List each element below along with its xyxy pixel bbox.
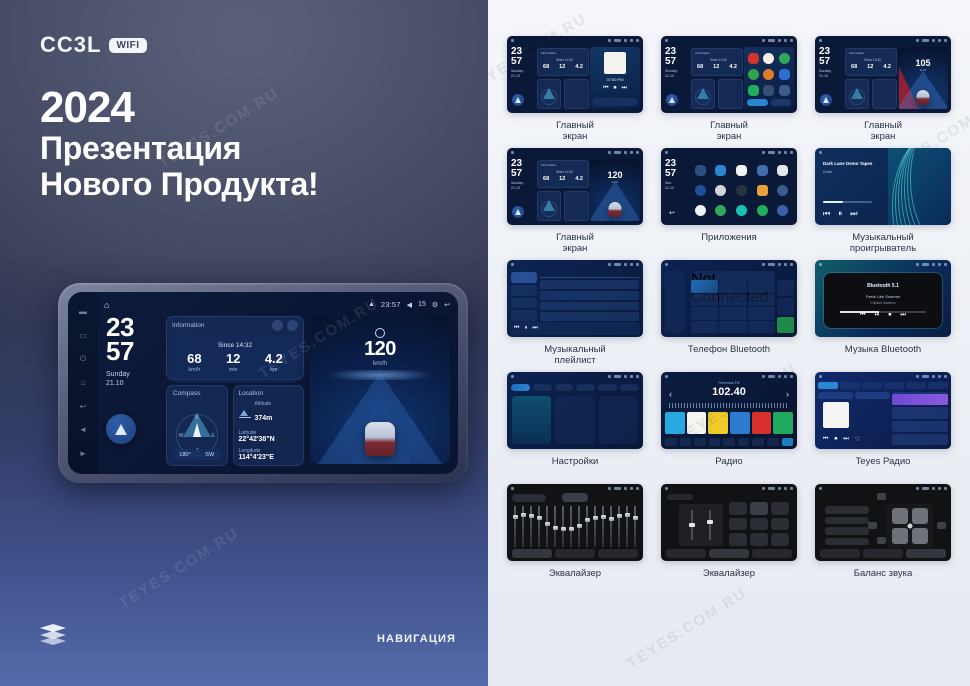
eq-preset-selector[interactable] — [562, 493, 588, 502]
app-icon-chrome[interactable] — [695, 185, 706, 196]
app-icon-bluetooth[interactable] — [715, 165, 726, 176]
thumbnail-home-drive[interactable]: 2357Sunday21.10 InformationSince 14:3268… — [507, 148, 643, 225]
navigation-arrow-icon[interactable] — [512, 206, 524, 218]
sidebar-item-tracks[interactable] — [511, 272, 537, 283]
teyes-radio-tabs[interactable] — [818, 382, 948, 389]
next-station-icon[interactable]: › — [786, 389, 789, 399]
compass-heading: 180° — [179, 452, 190, 458]
side-key-rail[interactable]: ▬ ▭ ⏻ ⌂ ↩ ◄ ► — [68, 292, 98, 474]
key-back-icon[interactable]: ↩ — [78, 402, 88, 412]
cell-caption: Телефон Bluetooth — [688, 344, 770, 368]
app-icon-gallery[interactable] — [763, 69, 774, 80]
grid-cell[interactable]: 2357Sunday21.10 InformationSince 14:3268… — [656, 36, 802, 144]
gear-icon[interactable]: ⚙ — [432, 301, 438, 309]
compass-mark-n: N — [195, 415, 199, 421]
eq2-title — [667, 494, 693, 500]
head-unit-screen: ▬ ▭ ⏻ ⌂ ↩ ◄ ► ⌂ ▲ 23:57 ◀ 15 — [68, 292, 458, 474]
cell-caption: Главныйэкран — [556, 232, 594, 256]
sidebar-item-artists[interactable] — [511, 298, 537, 309]
balance-pad[interactable] — [887, 504, 933, 548]
app-icon-spotify[interactable] — [748, 69, 759, 80]
compass-readout: 180° SW — [172, 449, 222, 460]
longitude-value: 114°4'23"E — [239, 454, 299, 461]
app-drawer[interactable] — [689, 159, 794, 221]
effect-button[interactable] — [729, 533, 747, 546]
key-home-icon[interactable]: ⌂ — [78, 378, 88, 388]
cell-caption: Радио — [715, 456, 742, 480]
app-icon-browser[interactable] — [763, 53, 774, 64]
thumbnail-teyes-radio[interactable]: ⏮⏹⏭♡ — [815, 372, 951, 449]
preset-3[interactable] — [708, 412, 728, 434]
music-visualizer — [888, 148, 951, 225]
playlist-sidebar[interactable] — [511, 272, 537, 321]
compass-needle-icon — [193, 423, 201, 437]
album-art — [823, 402, 849, 428]
home-screen-body: 23 57 Sunday 21.10 Information — [104, 316, 450, 464]
thumbnail-music-player[interactable]: Dark Lane Demo Tapes Drake ⏮⏸⏭ — [815, 148, 951, 225]
radio-presets[interactable] — [665, 412, 793, 434]
preset-2[interactable] — [687, 412, 707, 434]
thumbnail-home-apps[interactable]: 2357Sunday21.10 InformationSince 14:3268… — [661, 36, 797, 113]
home-icon[interactable]: ⌂ — [104, 300, 109, 310]
eq-band[interactable] — [594, 506, 596, 547]
status-bar: ⌂ ▲ 23:57 ◀ 15 ⚙ ↩ — [104, 298, 450, 311]
album-art — [604, 52, 626, 74]
compass-card[interactable]: Compass W N E S — [166, 385, 228, 466]
clock-column: 23 57 Sunday 21.10 — [104, 316, 160, 464]
clock-weekday: Sunday — [106, 371, 160, 380]
prev-station-icon[interactable]: ‹ — [669, 389, 672, 399]
drive-view-card[interactable]: 120 km/h — [310, 316, 450, 464]
prev-icon: ⏮ — [823, 209, 830, 219]
dial-key-7[interactable] — [691, 307, 718, 320]
hero-line-1: Презентация — [40, 131, 318, 167]
media-widget[interactable]: 07:50 PM ⏮⏹⏭ — [590, 47, 640, 109]
thumbnail-balance[interactable] — [815, 484, 951, 561]
dial-display: Not Connected — [691, 271, 775, 280]
eq-band[interactable] — [546, 506, 548, 547]
app-icon-maps[interactable] — [715, 205, 726, 216]
eq-band[interactable] — [570, 506, 572, 547]
app-icon-music-player[interactable] — [736, 205, 747, 216]
volume-value: 15 — [418, 301, 426, 308]
dial-key-0[interactable] — [719, 321, 746, 334]
eq-band[interactable] — [610, 506, 612, 547]
app-icon-file-manager[interactable] — [757, 185, 768, 196]
backspace-icon[interactable] — [777, 298, 794, 314]
dial-pad[interactable] — [691, 280, 775, 333]
playback-controls[interactable]: ⏮⏸⏭ — [823, 209, 857, 219]
mini-player-bar[interactable]: ⏮⏸⏭ — [510, 322, 640, 335]
app-icon-calculator[interactable] — [757, 165, 768, 176]
app-shortcuts-widget[interactable] — [744, 47, 794, 109]
thumbnail-home-drive-red[interactable]: 2357Sunday21.10 InformationSince 14:3268… — [815, 36, 951, 113]
radio-toolbar[interactable] — [665, 438, 793, 446]
product-logo: CC3L WIFI — [40, 32, 147, 58]
key-power-icon[interactable]: ⏻ — [78, 354, 88, 364]
grid-cell[interactable]: 2357Sunday21.10 InformationSince 14:3268… — [502, 148, 648, 256]
dial-key-5[interactable] — [719, 294, 746, 307]
effect-button[interactable] — [750, 533, 768, 546]
key-mic-icon[interactable]: ▬ — [78, 307, 88, 317]
information-refresh-icon[interactable] — [272, 320, 283, 331]
tab-system[interactable] — [620, 384, 639, 391]
screens-grid: 2357Sunday21.10 InformationSince 14:3268… — [502, 36, 956, 592]
dial-key-3[interactable] — [748, 280, 775, 293]
eq-band[interactable] — [626, 506, 628, 547]
back-icon[interactable]: ↩ — [444, 301, 450, 309]
effect-button[interactable] — [771, 518, 789, 531]
compass-title: Compass — [167, 386, 227, 397]
latitude-value: 22°42'38"N — [239, 436, 299, 443]
layers-icon — [40, 624, 66, 646]
radio-tuner-scale[interactable] — [669, 403, 789, 408]
cell-caption: Главныйэкран — [864, 120, 902, 144]
app-icon-bluetooth-music[interactable] — [736, 165, 747, 176]
thumbnail-equalizer[interactable] — [507, 484, 643, 561]
grid-cell[interactable]: 2357Sun21.10 ↩ — [656, 148, 802, 256]
grid-cell[interactable]: Bluetooth 5.1 Feels Like Summer Childish… — [810, 260, 956, 368]
watermark: TEYES.COM.RU — [624, 585, 750, 673]
volume-icon: ◀ — [407, 301, 412, 309]
tab-display[interactable] — [555, 384, 574, 391]
information-card[interactable]: Information Since 14:32 — [166, 316, 304, 380]
cell-caption: Приложения — [701, 232, 757, 256]
eq-tab-eq[interactable] — [666, 549, 706, 558]
compass-direction: SW — [205, 452, 214, 458]
speed-value: 120 — [310, 338, 450, 361]
wifi-icon: ▲ — [368, 301, 375, 308]
balance-left-button[interactable] — [868, 522, 877, 529]
thumbnail-bt-music[interactable]: Bluetooth 5.1 Feels Like Summer Childish… — [815, 260, 951, 337]
eq-band[interactable] — [522, 506, 524, 547]
key-volume-down-icon[interactable]: ◄ — [78, 425, 88, 435]
dial-key-9[interactable] — [748, 307, 775, 320]
favorite-icon[interactable] — [777, 280, 794, 296]
eq-tab-effect[interactable] — [709, 549, 749, 558]
hero-year: 2024 — [40, 85, 318, 131]
thumbnail-bt-phone[interactable]: Not Connected — [661, 260, 797, 337]
grid-cell[interactable]: 2357Sunday21.10 InformationSince 14:3268… — [502, 36, 648, 144]
stat-speed: 68km/h — [187, 352, 201, 373]
eq-band[interactable] — [554, 506, 556, 547]
tab-sound[interactable] — [533, 384, 552, 391]
app-icon-play[interactable] — [748, 85, 759, 96]
media-controls[interactable]: ⏮⏹⏭ — [590, 85, 640, 92]
settings-tabs[interactable] — [511, 383, 639, 392]
bt-music-panel: Bluetooth 5.1 Feels Like Summer Childish… — [824, 273, 942, 328]
grid-cell[interactable]: Dark Lane Demo Tapes Drake ⏮⏸⏭ Музыкальн… — [810, 148, 956, 256]
speed-unit: km/h — [310, 360, 450, 367]
preset-1[interactable] — [665, 412, 685, 434]
cell-caption: Эквалайзер — [703, 568, 755, 592]
compass-mark-w: W — [179, 433, 184, 439]
navigation-arrow-icon[interactable] — [820, 94, 832, 106]
right-screens-panel: 2357Sunday21.10 InformationSince 14:3268… — [488, 0, 970, 686]
card-hotspot[interactable] — [555, 396, 594, 444]
eq-band[interactable] — [602, 506, 604, 547]
left-hero-panel: ▬ ▭ ⏻ ⌂ ↩ ◄ ► ⌂ ▲ 23:57 ◀ 15 — [0, 0, 488, 686]
head-unit-ui: ⌂ ▲ 23:57 ◀ 15 ⚙ ↩ 23 57 — [98, 292, 458, 474]
tab-wifi[interactable] — [511, 384, 530, 391]
preset-6[interactable] — [773, 412, 793, 434]
thumbnail-equalizer-effects[interactable] — [661, 484, 797, 561]
cell-caption: Музыкальныйпроигрыватель — [850, 232, 916, 256]
eq-tab-effect[interactable] — [555, 549, 595, 558]
balance-right-button[interactable] — [937, 522, 946, 529]
dial-key-star[interactable] — [691, 321, 718, 334]
app-icon-maps[interactable] — [779, 53, 790, 64]
effect-button[interactable] — [750, 502, 768, 515]
dial-key-8[interactable] — [719, 307, 746, 320]
thumbnail-apps[interactable]: 2357Sun21.10 ↩ — [661, 148, 797, 225]
play-pause-icon: ⏯ — [875, 312, 880, 319]
effect-button[interactable] — [771, 502, 789, 515]
teyes-controls[interactable]: ⏮⏹⏭♡ — [823, 436, 860, 443]
clock-date: 21.10 — [106, 380, 160, 389]
app-icon-gallery[interactable] — [777, 185, 788, 196]
thumbnail-home-media[interactable]: 2357Sunday21.10 InformationSince 14:3268… — [507, 36, 643, 113]
prev-icon: ⏮ — [860, 312, 865, 319]
thumbnail-music-playlist[interactable]: ⏮⏸⏭ — [507, 260, 643, 337]
thumbnail-settings[interactable] — [507, 372, 643, 449]
grid-cell[interactable]: 2357Sunday21.10 InformationSince 14:3268… — [810, 36, 956, 144]
track-artist: Drake — [823, 170, 832, 174]
media-time: 07:50 PM — [590, 77, 640, 82]
cell-caption: Teyes Радио — [856, 456, 911, 480]
altitude-value: 374m — [255, 415, 273, 422]
eq-tab-effect[interactable] — [863, 549, 903, 558]
hero-text: 2024 Презентация Нового Продукта! — [40, 85, 318, 203]
mountain-icon — [239, 409, 251, 418]
app-icon-radio[interactable] — [763, 85, 774, 96]
tab-widgets[interactable] — [771, 99, 792, 106]
sidebar-item-folders[interactable] — [511, 310, 537, 321]
information-since: Since 14:32 — [172, 342, 298, 349]
preset-5[interactable] — [752, 412, 772, 434]
key-menu-icon[interactable]: ▭ — [78, 331, 88, 341]
app-icon-play-store[interactable] — [757, 205, 768, 216]
navigation-arrow-icon[interactable] — [106, 414, 136, 444]
eq-preset-label[interactable] — [512, 494, 546, 502]
preset-4[interactable] — [730, 412, 750, 434]
app-icon-allapps[interactable] — [779, 85, 790, 96]
eq-band[interactable] — [634, 506, 636, 547]
dial-key-2[interactable] — [719, 280, 746, 293]
cell-caption: Главныйэкран — [556, 120, 594, 144]
grid-cell[interactable]: Баланс звука — [810, 484, 956, 592]
dial-key-1[interactable] — [691, 280, 718, 293]
car-avatar — [365, 422, 395, 456]
eq-band[interactable] — [586, 506, 588, 547]
balance-presets[interactable] — [825, 506, 869, 545]
eq-band[interactable] — [562, 506, 564, 547]
grid-cell[interactable]: ⏮⏹⏭♡ Teyes Радио — [810, 372, 956, 480]
next-icon: ⏭ — [900, 312, 905, 319]
key-volume-up-icon[interactable]: ► — [78, 449, 88, 459]
tab-time[interactable] — [576, 384, 595, 391]
phone-sidebar[interactable] — [665, 271, 685, 333]
stat-time: 12min — [226, 352, 240, 373]
eq-band[interactable] — [618, 506, 620, 547]
teyes-station-list[interactable] — [892, 394, 948, 445]
grid-cell[interactable]: Not Connected — [656, 260, 802, 368]
widget-column: Information Since 14:32 — [166, 316, 304, 464]
effect-button[interactable] — [729, 518, 747, 531]
navigation-arrow-icon[interactable] — [512, 94, 524, 106]
product-logo-text: CC3L — [40, 32, 101, 58]
eq-sliders[interactable] — [514, 506, 636, 547]
pause-icon: ⏸ — [838, 209, 842, 219]
tab-apps[interactable] — [747, 99, 768, 106]
clock-minutes: 57 — [106, 340, 160, 364]
dial-key-4[interactable] — [691, 294, 718, 307]
altitude-label: Altitude — [255, 401, 273, 407]
grid-cell[interactable]: Настройки — [502, 372, 648, 480]
presentation-slide: ▬ ▭ ⏻ ⌂ ↩ ◄ ► ⌂ ▲ 23:57 ◀ 15 — [0, 0, 970, 686]
balance-up-button[interactable] — [877, 493, 886, 500]
dial-key-hash[interactable] — [748, 321, 775, 334]
dial-key-6[interactable] — [748, 294, 775, 307]
eq-tab-eq[interactable] — [512, 549, 552, 558]
cell-caption: Главныйэкран — [710, 120, 748, 144]
phone-actions[interactable] — [777, 280, 794, 333]
drive-widget[interactable]: 120 km/h — [590, 159, 640, 221]
grid-cell[interactable]: Эквалайзер — [656, 484, 802, 592]
eq-tab-fade[interactable] — [598, 549, 638, 558]
thumbnail-radio[interactable]: Региональ FM 102.40 ‹ › — [661, 372, 797, 449]
app-icon-contacts[interactable] — [715, 185, 726, 196]
app-icon-kinopoisk[interactable] — [695, 205, 706, 216]
navigation-label: НАВИГАЦИЯ — [377, 633, 456, 645]
next-icon: ⏭ — [850, 209, 857, 219]
stat-distance: 4.2km — [265, 352, 283, 373]
bt-version-badge: Bluetooth 5.1 — [824, 283, 942, 289]
app-icon-dvr[interactable] — [695, 165, 706, 176]
grid-cell[interactable]: Региональ FM 102.40 ‹ › — [656, 372, 802, 480]
tab-brightness[interactable] — [598, 384, 617, 391]
radio-band: Региональ FM — [661, 381, 797, 385]
eq-band[interactable] — [514, 506, 516, 547]
cell-caption: Музыкальныйплейлист — [544, 344, 605, 368]
eq-tabs[interactable] — [820, 549, 946, 558]
app-icon-radio[interactable] — [777, 205, 788, 216]
eq-band[interactable] — [530, 506, 532, 547]
call-icon[interactable] — [777, 317, 794, 333]
status-time: 23:57 — [381, 300, 401, 309]
eq-band[interactable] — [538, 506, 540, 547]
eq2-effect-buttons[interactable] — [729, 502, 789, 546]
balance-handle[interactable] — [908, 524, 913, 529]
effect-button[interactable] — [750, 518, 768, 531]
radio-frequency: 102.40 — [661, 386, 797, 398]
speed-icon — [375, 328, 385, 338]
stop-icon: ⏹ — [888, 312, 891, 319]
playlist-rows[interactable] — [540, 272, 639, 321]
eq-tab-fade[interactable] — [752, 549, 792, 558]
eq-tabs[interactable] — [666, 549, 792, 558]
back-icon[interactable]: ↩ — [669, 209, 675, 217]
bt-track-artist: Childish Gambino — [824, 301, 942, 305]
speed-value: 120 — [590, 170, 640, 180]
balance-down-button[interactable] — [877, 537, 886, 544]
eq-band[interactable] — [578, 506, 580, 547]
bt-track-title: Feels Like Summer — [824, 294, 942, 299]
app-icon-camera[interactable] — [777, 165, 788, 176]
app-icon-files[interactable] — [779, 69, 790, 80]
wifi-badge: WIFI — [109, 38, 146, 53]
location-card[interactable]: Location Altitude 374m — [233, 385, 305, 466]
grid-cell[interactable]: Эквалайзер — [502, 484, 648, 592]
bt-controls[interactable]: ⏮⏯⏹⏭ — [824, 312, 942, 319]
card-wifi[interactable] — [512, 396, 551, 444]
eq-tab-fade[interactable] — [906, 549, 946, 558]
effect-button[interactable] — [729, 502, 747, 515]
cell-caption: Музыка Bluetooth — [845, 344, 921, 368]
sidebar-item-albums[interactable] — [511, 285, 537, 296]
app-icon-youtube[interactable] — [748, 53, 759, 64]
navigation-arrow-icon[interactable] — [666, 94, 678, 106]
eq-tab-eq[interactable] — [820, 549, 860, 558]
drive-widget[interactable]: 105 km/h — [898, 47, 948, 109]
cell-caption: Настройки — [552, 456, 599, 480]
information-title: Information — [172, 322, 205, 329]
head-unit-device: ▬ ▭ ⏻ ⌂ ↩ ◄ ► ⌂ ▲ 23:57 ◀ 15 — [58, 283, 468, 483]
media-toolbar[interactable] — [593, 98, 637, 106]
information-expand-icon[interactable] — [287, 320, 298, 331]
progress-bar[interactable] — [823, 201, 872, 203]
cell-caption: Эквалайзер — [549, 568, 601, 592]
eq-tabs[interactable] — [512, 549, 638, 558]
location-title: Location — [239, 386, 299, 397]
cell-caption: Баланс звука — [854, 568, 913, 592]
grid-cell[interactable]: ⏮⏸⏭ Музыкальныйплейлист — [502, 260, 648, 368]
eq2-sliders[interactable] — [679, 504, 723, 546]
hero-line-2: Нового Продукта! — [40, 167, 318, 203]
settings-cards[interactable] — [512, 396, 638, 444]
app-icon-dsp-equalizer[interactable] — [736, 185, 747, 196]
card-more[interactable] — [599, 396, 638, 444]
track-title: Dark Lane Demo Tapes — [823, 161, 872, 166]
effect-button[interactable] — [771, 533, 789, 546]
status-icons: ▲ 23:57 ◀ 15 ⚙ ↩ — [368, 300, 450, 309]
compass-mark-e: E — [211, 433, 214, 439]
